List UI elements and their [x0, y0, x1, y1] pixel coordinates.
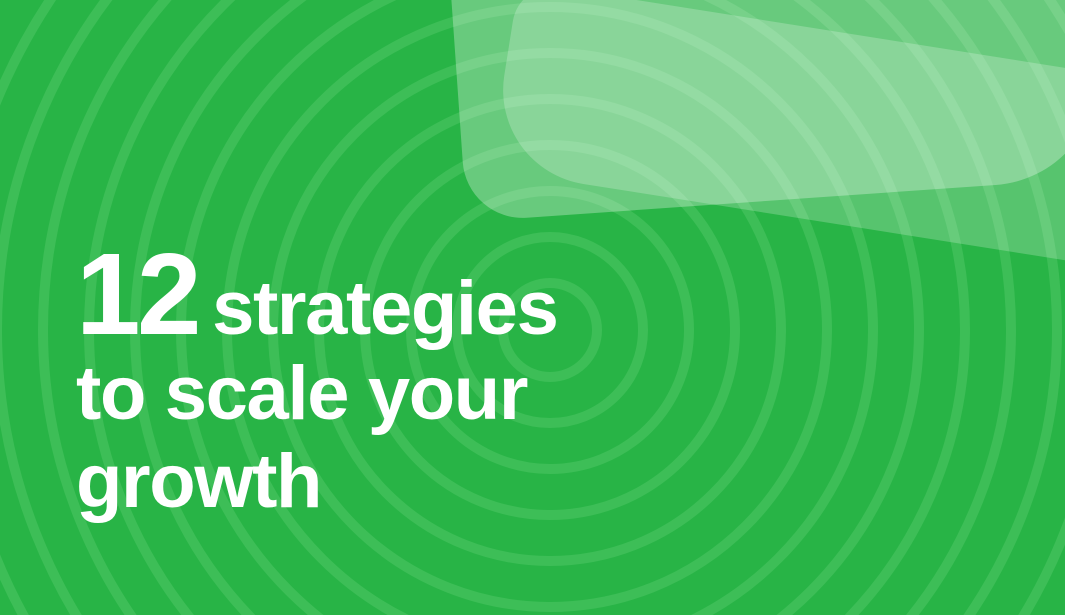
headline-line-3: growth [76, 438, 916, 526]
headline-line-1-word: strategies [198, 266, 557, 351]
banner-canvas: 12strategies to scale your growth [0, 0, 1065, 615]
headline-line-2: to scale your [76, 350, 916, 438]
headline-line-1: 12strategies [76, 238, 916, 350]
headline-block: 12strategies to scale your growth [76, 238, 916, 526]
headline-number: 12 [76, 229, 198, 359]
